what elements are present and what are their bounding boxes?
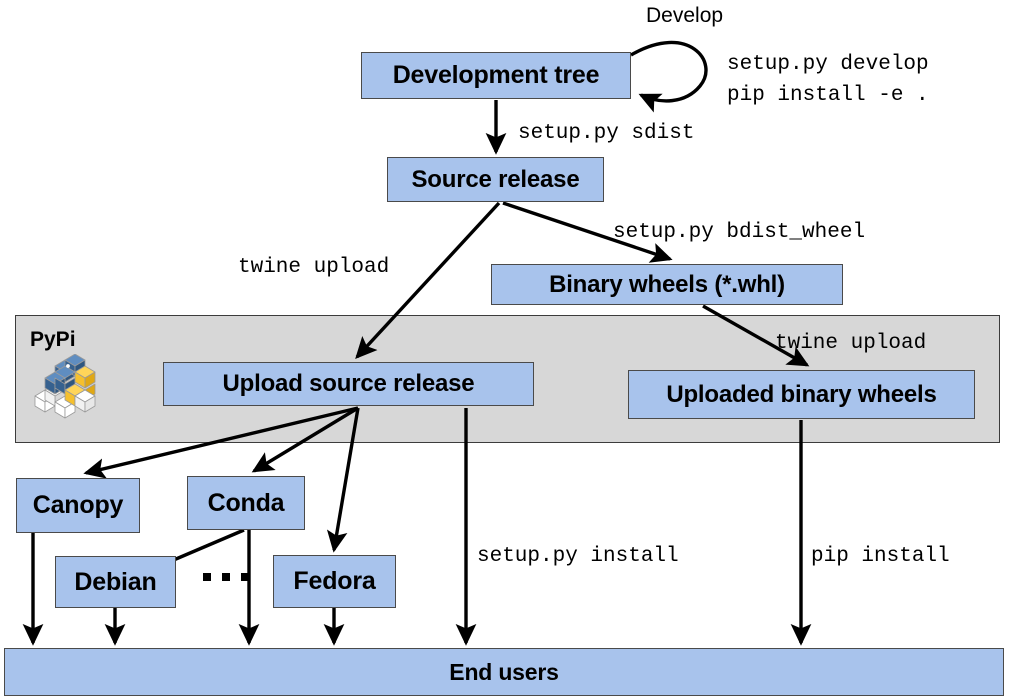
node-fedora: Fedora: [273, 555, 396, 608]
edge-label-setup-py-sdist: setup.py sdist: [518, 122, 694, 145]
diagram-canvas: PyPi: [0, 0, 1009, 698]
node-label: Debian: [74, 568, 156, 597]
node-label: End users: [449, 659, 558, 686]
ellipsis-dot: [222, 573, 230, 581]
edge-upload-to-conda: [254, 408, 358, 471]
edge-label-twine-upload-whl: twine upload: [775, 332, 926, 355]
node-binary-wheels: Binary wheels (*.whl): [491, 264, 843, 305]
node-uploaded-wheels: Uploaded binary wheels: [628, 370, 975, 419]
node-label: Development tree: [393, 61, 600, 90]
node-canopy: Canopy: [16, 478, 140, 533]
node-label: Upload source release: [223, 370, 475, 398]
edge-source-to-upload: [357, 203, 499, 357]
node-label: Fedora: [293, 567, 375, 596]
node-source-release: Source release: [387, 157, 604, 202]
edge-upload-to-fedora: [334, 408, 358, 550]
node-debian: Debian: [55, 556, 176, 608]
more-distros-ellipsis: [203, 573, 249, 581]
ellipsis-dot: [203, 573, 211, 581]
node-label: Source release: [412, 166, 580, 194]
node-development-tree: Development tree: [361, 52, 631, 99]
node-conda: Conda: [187, 476, 305, 530]
edge-label-develop: Develop: [646, 4, 723, 28]
node-label: Binary wheels (*.whl): [549, 271, 785, 299]
node-label: Canopy: [33, 491, 123, 520]
edge-label-setup-py-install: setup.py install: [477, 545, 679, 568]
node-end-users: End users: [4, 648, 1004, 696]
edge-label-setup-py-bdist: setup.py bdist_wheel: [613, 221, 865, 244]
edge-label-setup-py-develop: setup.py develop: [727, 53, 929, 76]
node-label: Conda: [208, 489, 285, 518]
node-upload-source: Upload source release: [163, 362, 534, 406]
edge-develop-self-loop: [631, 42, 706, 100]
edge-label-twine-upload-src: twine upload: [238, 256, 389, 279]
ellipsis-dot: [241, 573, 249, 581]
edge-upload-to-canopy: [86, 408, 358, 473]
edge-label-pip-install: pip install: [811, 545, 950, 568]
edge-label-pip-install-e: pip install -e .: [727, 84, 929, 107]
node-label: Uploaded binary wheels: [666, 381, 936, 409]
